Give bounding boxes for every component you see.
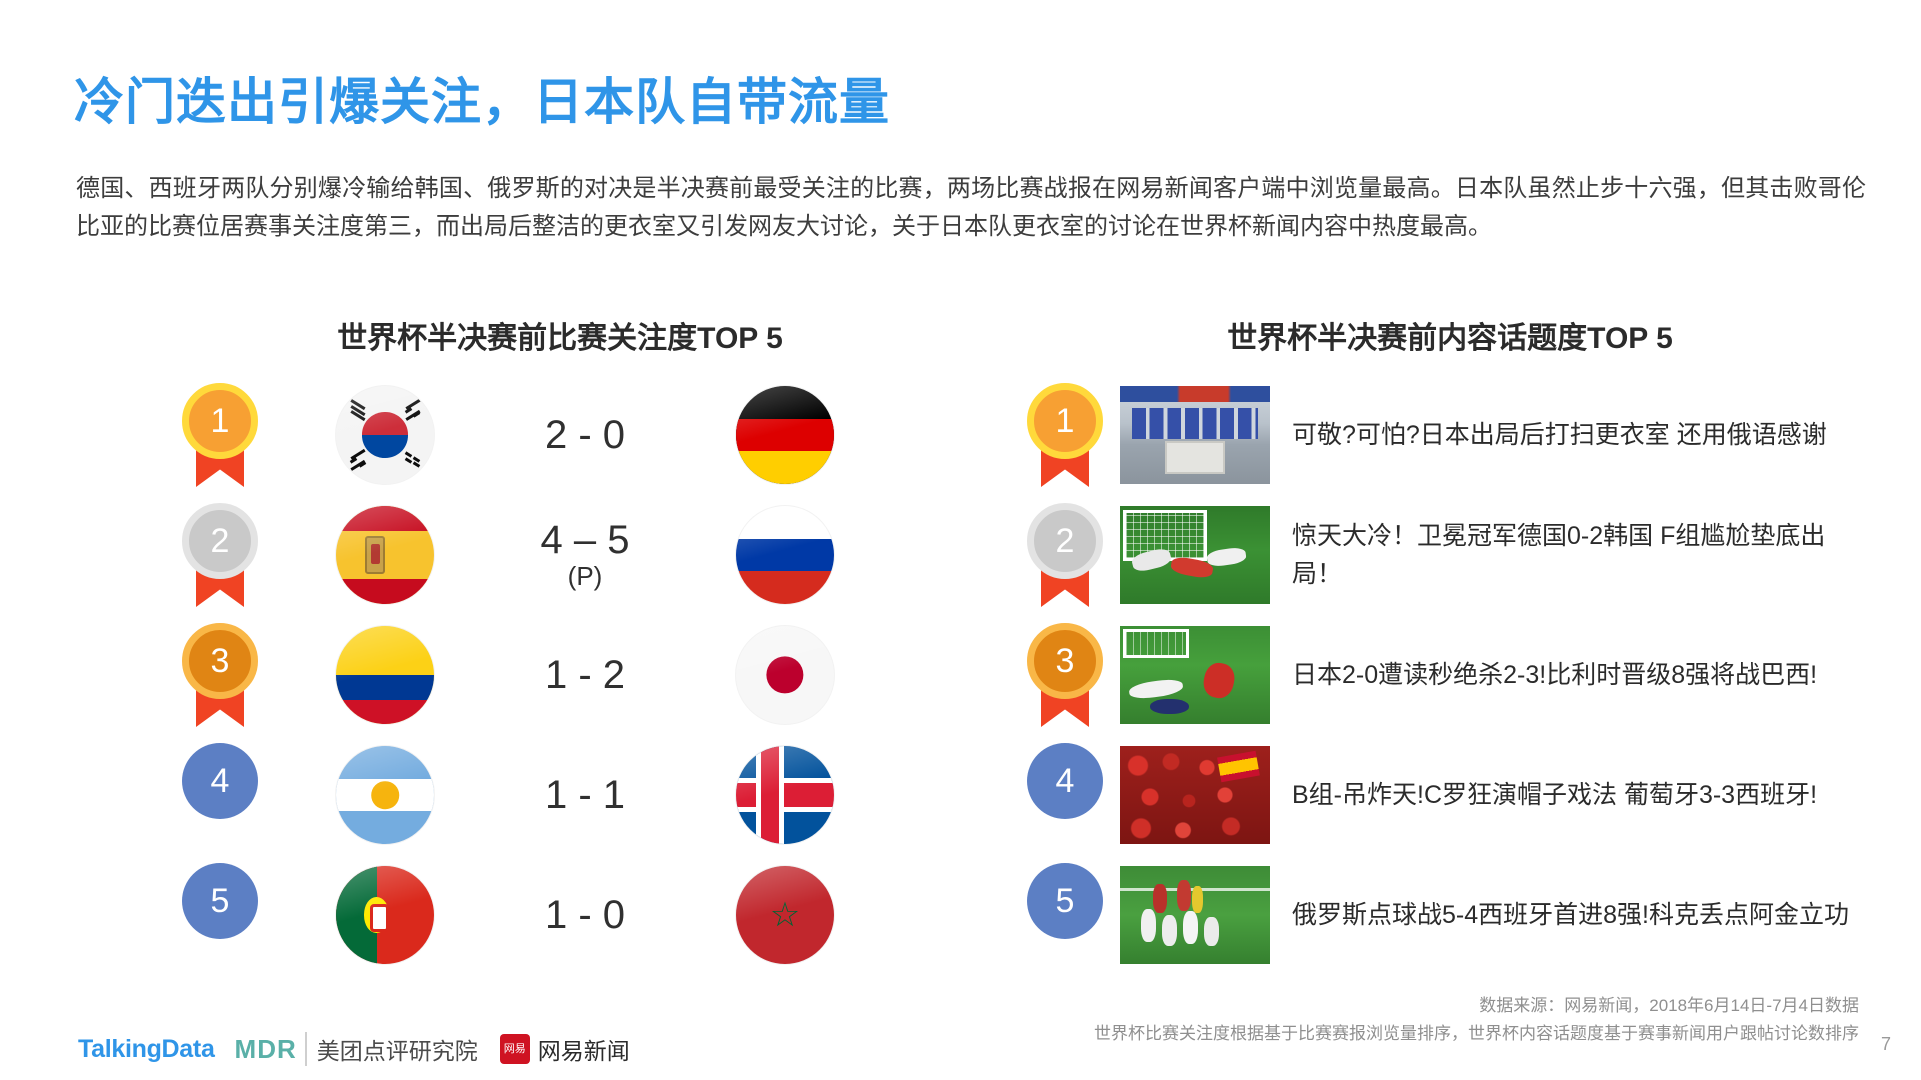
match-row: 1 — [140, 375, 980, 495]
page-number: 7 — [1881, 1034, 1891, 1055]
rank-badge-5: 5 — [182, 863, 258, 967]
medal-gold-icon: 1 — [1027, 383, 1103, 487]
flag-morocco-icon: ☆ — [736, 866, 834, 964]
flag-germany-icon — [736, 386, 834, 484]
away-flag-cell — [700, 626, 870, 724]
match-row: 3 1 - 2 — [140, 615, 980, 735]
section-header-news: 世界杯半决赛前内容话题度TOP 5 — [1010, 313, 1890, 357]
match-row: 4 1 - 1 — [140, 735, 980, 855]
news-rank-4: 4 — [1010, 743, 1120, 847]
score-cell: 1 - 0 — [470, 894, 700, 936]
score-cell: 2 - 0 — [470, 414, 700, 456]
rank-number: 3 — [1027, 623, 1103, 699]
news-headline[interactable]: 惊天大冷！卫冕冠军德国0-2韩国 F组尴尬垫底出局！ — [1292, 517, 1852, 593]
news-thumbnail-japan-belgium — [1120, 626, 1270, 724]
news-row[interactable]: 2 惊天大冷！卫冕冠军德国0-2韩国 F组尴尬垫底出局！ — [1010, 495, 1900, 615]
rank-number: 5 — [182, 863, 258, 939]
rank-badge-4: 4 — [182, 743, 258, 847]
rank-number: 1 — [182, 383, 258, 459]
medal-bronze-icon: 3 — [1027, 623, 1103, 727]
rank-number: 3 — [182, 623, 258, 699]
news-thumbnail-spain-fans — [1120, 746, 1270, 844]
news-row[interactable]: 4 B组-吊炸天!C罗狂演帽子戏法 葡萄牙3-3西班牙! — [1010, 735, 1900, 855]
score-cell: 4 – 5 (P) — [470, 519, 700, 590]
flag-portugal-icon — [336, 866, 434, 964]
rank-number: 4 — [182, 743, 258, 819]
rank-number: 2 — [1027, 503, 1103, 579]
match-row: 2 4 – 5 (P) — [140, 495, 980, 615]
news-headline[interactable]: 日本2-0遭读秒绝杀2-3!比利时晋级8强将战巴西! — [1292, 656, 1852, 694]
news-thumbnail-russia-celebration — [1120, 866, 1270, 964]
footer-logos: TalkingData MDR 美团点评研究院 网易 网易新闻 — [78, 1032, 630, 1066]
source-line-2: 世界杯比赛关注度根据基于比赛赛报浏览量排序，世界杯内容话题度基于赛事新闻用户跟帖… — [1094, 1020, 1859, 1048]
flag-russia-icon — [736, 506, 834, 604]
meituan-dianping-research-logo: 美团点评研究院 — [305, 1032, 478, 1066]
score-value: 1 - 1 — [470, 774, 700, 816]
news-thumbnail-germany-korea — [1120, 506, 1270, 604]
news-row[interactable]: 3 日本2-0遭读秒绝杀2-3!比利时晋级8强将战巴西! — [1010, 615, 1900, 735]
news-row[interactable]: 5 俄罗斯点球战5-4西班牙首进8强!科克丢点阿金立功 — [1010, 855, 1900, 975]
wangyi-news-logo: 网易新闻 — [538, 1032, 630, 1066]
score-value: 1 - 0 — [470, 894, 700, 936]
flag-spain-icon — [336, 506, 434, 604]
news-list: 1 可敬?可怕?日本出局后打扫更衣室 还用俄语感谢 2 惊天大冷！卫冕冠军德国0… — [1010, 375, 1900, 975]
home-flag-cell — [300, 626, 470, 724]
wangyi-mark-icon: 网易 — [500, 1034, 530, 1064]
medal-silver-icon: 2 — [182, 503, 258, 607]
score-cell: 1 - 1 — [470, 774, 700, 816]
match-rank-3: 3 — [140, 623, 300, 727]
news-headline[interactable]: B组-吊炸天!C罗狂演帽子戏法 葡萄牙3-3西班牙! — [1292, 776, 1852, 814]
flag-iceland-icon — [736, 746, 834, 844]
source-line-1: 数据来源：网易新闻，2018年6月14日-7月4日数据 — [1094, 992, 1859, 1020]
flag-japan-icon — [736, 626, 834, 724]
away-flag-cell — [700, 386, 870, 484]
flag-colombia-icon — [336, 626, 434, 724]
rank-badge-5: 5 — [1027, 863, 1103, 967]
section-header-matches: 世界杯半决赛前比赛关注度TOP 5 — [140, 313, 980, 357]
mdr-logo: MDR — [235, 1034, 297, 1065]
home-flag-cell — [300, 386, 470, 484]
match-rank-5: 5 — [140, 863, 300, 967]
score-note: (P) — [470, 563, 700, 590]
news-rank-3: 3 — [1010, 623, 1120, 727]
score-value: 1 - 2 — [470, 654, 700, 696]
rank-number: 2 — [182, 503, 258, 579]
rank-number: 1 — [1027, 383, 1103, 459]
away-flag-cell — [700, 506, 870, 604]
news-rank-1: 1 — [1010, 383, 1120, 487]
medal-bronze-icon: 3 — [182, 623, 258, 727]
news-headline[interactable]: 可敬?可怕?日本出局后打扫更衣室 还用俄语感谢 — [1292, 416, 1852, 454]
slide-root: 冷门迭出引爆关注，日本队自带流量 德国、西班牙两队分别爆冷输给韩国、俄罗斯的对决… — [0, 0, 1921, 1080]
rank-badge-4: 4 — [1027, 743, 1103, 847]
match-row: 5 1 - 0 ☆ — [140, 855, 980, 975]
flag-south-korea-icon — [336, 386, 434, 484]
medal-silver-icon: 2 — [1027, 503, 1103, 607]
intro-paragraph: 德国、西班牙两队分别爆冷输给韩国、俄罗斯的对决是半决赛前最受关注的比赛，两场比赛… — [76, 170, 1866, 246]
match-rank-4: 4 — [140, 743, 300, 847]
page-title: 冷门迭出引爆关注，日本队自带流量 — [74, 62, 890, 134]
medal-gold-icon: 1 — [182, 383, 258, 487]
news-rank-2: 2 — [1010, 503, 1120, 607]
home-flag-cell — [300, 506, 470, 604]
source-note: 数据来源：网易新闻，2018年6月14日-7月4日数据 世界杯比赛关注度根据基于… — [1094, 992, 1859, 1048]
score-value: 2 - 0 — [470, 414, 700, 456]
news-row[interactable]: 1 可敬?可怕?日本出局后打扫更衣室 还用俄语感谢 — [1010, 375, 1900, 495]
flag-argentina-icon — [336, 746, 434, 844]
news-headline[interactable]: 俄罗斯点球战5-4西班牙首进8强!科克丢点阿金立功 — [1292, 896, 1852, 934]
away-flag-cell: ☆ — [700, 866, 870, 964]
match-rank-2: 2 — [140, 503, 300, 607]
rank-number: 5 — [1027, 863, 1103, 939]
score-value: 4 – 5 — [470, 519, 700, 561]
rank-number: 4 — [1027, 743, 1103, 819]
news-thumbnail-locker-room — [1120, 386, 1270, 484]
match-list: 1 — [140, 375, 980, 975]
news-rank-5: 5 — [1010, 863, 1120, 967]
home-flag-cell — [300, 866, 470, 964]
talkingdata-logo: TalkingData — [78, 1035, 215, 1064]
away-flag-cell — [700, 746, 870, 844]
home-flag-cell — [300, 746, 470, 844]
score-cell: 1 - 2 — [470, 654, 700, 696]
match-rank-1: 1 — [140, 383, 300, 487]
